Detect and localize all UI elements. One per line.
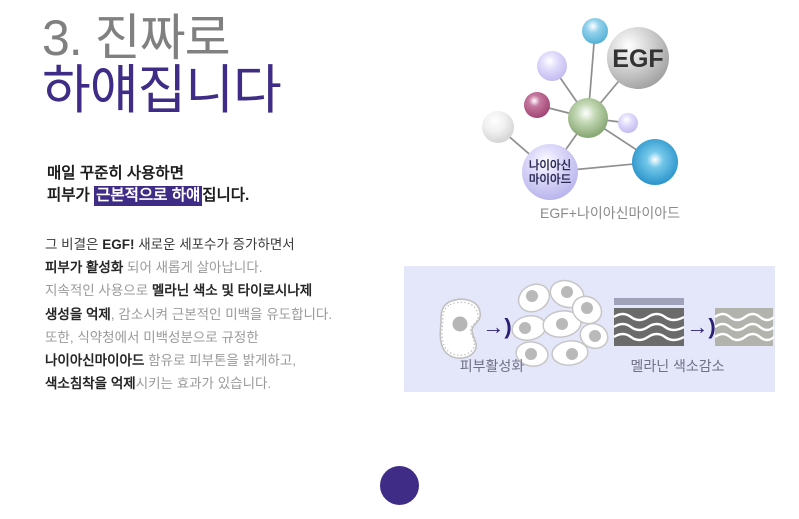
body-line-6: 나이아신마이아드 함유로 피부톤을 밝게하고,: [45, 349, 445, 372]
body-line-2: 피부가 활성화 되어 새롭게 살아납니다.: [45, 256, 445, 279]
body-line-3: 지속적인 사용으로 멜라닌 색소 및 타이로시나제: [45, 279, 445, 302]
benefits-panel: →): [404, 266, 775, 392]
subheadline-prefix: 피부가: [47, 187, 94, 204]
node-blue-large: [632, 139, 678, 185]
body-copy: 그 비결은 EGF! 새로운 세포수가 증가하면서 피부가 활성화 되어 새롭게…: [45, 233, 445, 396]
body-line-7: 색소침착을 억제시키는 효과가 있습니다.: [45, 372, 445, 395]
node-lavender-small-right: [618, 113, 638, 133]
body-line-4-a: 생성을 억제: [45, 307, 111, 322]
page-title: 3. 진짜로 하얘집니다: [42, 14, 442, 117]
subheadline: 매일 꾸준히 사용하면 피부가 근본적으로 하얘집니다.: [47, 163, 447, 208]
arrow-right-icon-cells: →): [482, 314, 511, 339]
headline-line-2: 하얘집니다: [42, 65, 442, 117]
molecule-diagram: EGF 나이아신 마이아드: [440, 6, 780, 206]
body-line-1-c: 새로운 세포수가 증가하면서: [134, 237, 294, 252]
niacinamide-label-line-2: 마이아드: [529, 172, 572, 186]
melanin-light-icon: [715, 308, 774, 346]
subheadline-line-2: 피부가 근본적으로 하얘집니다.: [47, 185, 447, 207]
body-line-6-a: 나이아신마이아드: [45, 353, 144, 368]
decorative-dot: [380, 466, 419, 505]
subheadline-line-1: 매일 꾸준히 사용하면: [47, 163, 447, 185]
molecule-caption: EGF+나이아신마이아드: [440, 203, 780, 223]
benefits-panel-labels: 피부활성화 멜라닌 색소감소: [404, 356, 775, 376]
body-line-7-a: 색소침착을 억제: [45, 376, 136, 391]
subheadline-suffix: 집니다.: [202, 187, 249, 204]
body-line-2-a: 피부가 활성화: [45, 260, 123, 275]
body-line-4: 생성을 억제, 감소시켜 근본적인 미백을 유도합니다.: [45, 303, 445, 326]
egf-label: EGF: [612, 45, 663, 73]
body-line-7-b: 시키는 효과가 있습니다.: [136, 376, 271, 391]
node-lavender-upper: [537, 51, 567, 81]
node-blue-small-top: [582, 18, 608, 44]
melanin-dark-icon: [614, 298, 684, 346]
node-white: [482, 111, 514, 143]
body-line-6-b: 함유로 피부톤을 밝게하고,: [144, 353, 296, 368]
benefit-label-skin-activation: 피부활성화: [404, 356, 580, 376]
benefit-label-melanin-reduction: 멜라닌 색소감소: [580, 356, 775, 376]
arrow-right-icon-melanin: →): [686, 314, 715, 339]
node-core-green: [568, 98, 608, 138]
node-magenta: [524, 92, 550, 118]
body-line-1-a: 그 비결은: [45, 237, 102, 252]
headline-line-1: 3. 진짜로: [42, 14, 442, 63]
body-line-4-b: , 감소시켜 근본적인 미백을 유도합니다.: [111, 307, 332, 322]
body-line-5: 또한, 식약청에서 미백성분으로 규정한: [45, 326, 445, 349]
promo-page: 3. 진짜로 하얘집니다 매일 꾸준히 사용하면 피부가 근본적으로 하얘집니다…: [0, 0, 799, 519]
niacinamide-label-line-1: 나이아신: [529, 158, 571, 172]
body-line-3-b: 멜라닌 색소 및 타이로시나제: [152, 283, 312, 298]
node-niacinamide: [522, 144, 578, 200]
body-line-1-egf: EGF!: [102, 237, 134, 252]
body-line-1: 그 비결은 EGF! 새로운 세포수가 증가하면서: [45, 233, 445, 256]
single-cell-icon: [440, 299, 480, 358]
body-line-2-b: 되어 새롭게 살아납니다.: [123, 260, 262, 275]
subheadline-highlight: 근본적으로 하얘: [94, 186, 202, 206]
body-line-3-a: 지속적인 사용으로: [45, 283, 152, 298]
